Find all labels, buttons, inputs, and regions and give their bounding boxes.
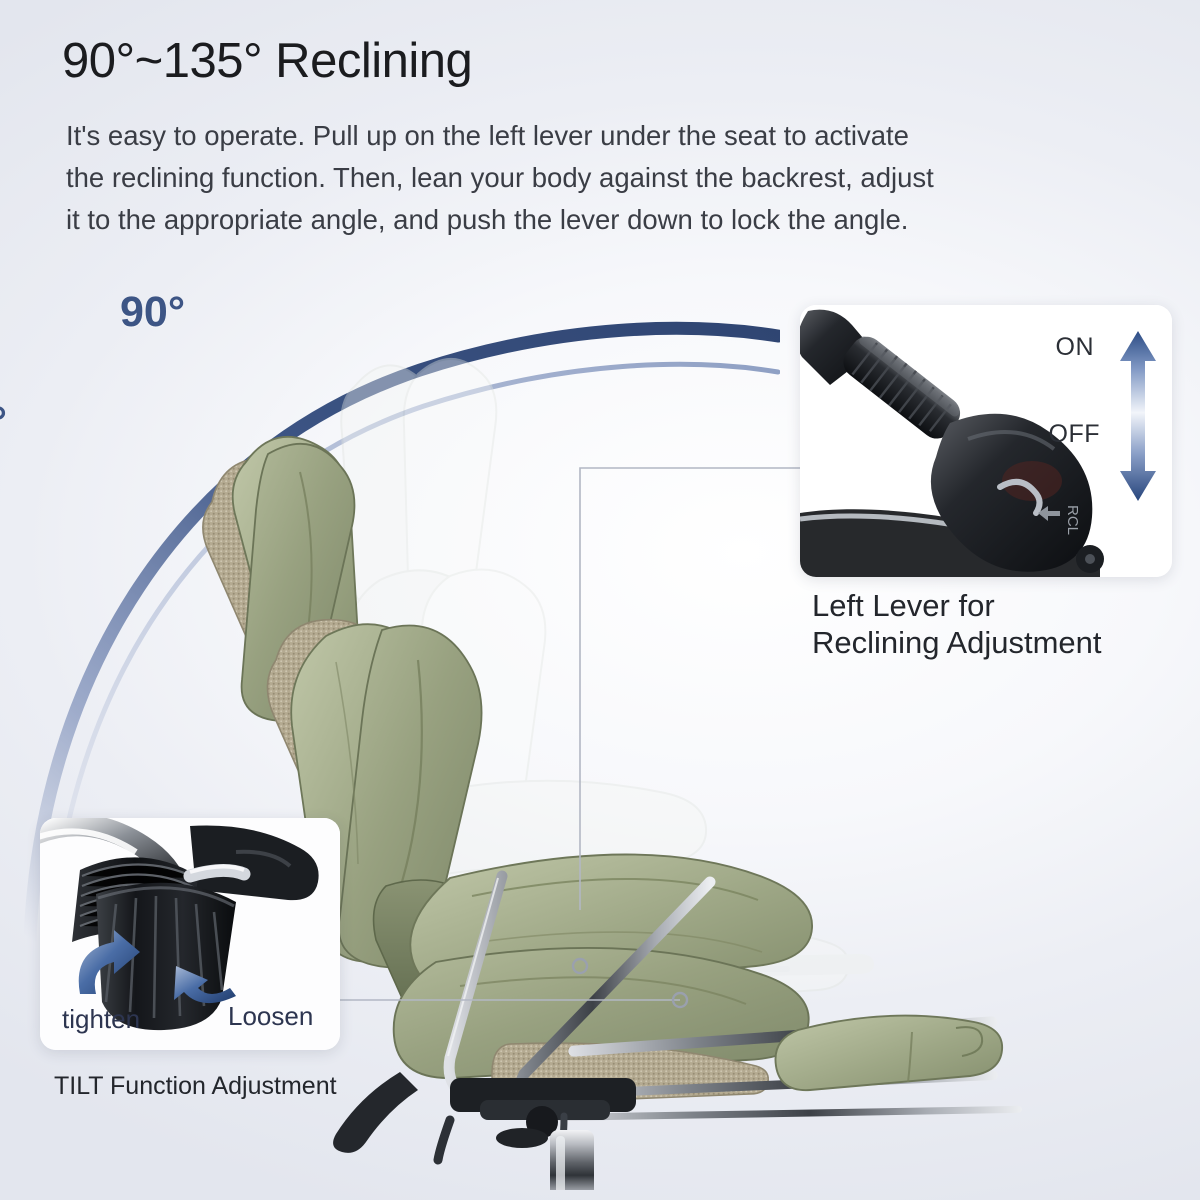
paragraph-line-1: It's easy to operate. Pull up on the lef… (66, 115, 1136, 157)
lever-inset-caption: Left Lever for Reclining Adjustment (812, 588, 1102, 661)
inset-lever-photo: RCL ON OFF (800, 305, 1172, 577)
lever-caption-line-1: Left Lever for (812, 588, 1102, 625)
knob-inset-caption: TILT Function Adjustment (54, 1072, 337, 1102)
infographic-canvas: 90°~135° Reclining It's easy to operate.… (0, 0, 1200, 1200)
rcl-marking-text: RCL (1064, 505, 1081, 535)
paragraph-line-3: it to the appropriate angle, and push th… (66, 199, 1136, 241)
lever-off-label: OFF (1049, 420, 1101, 449)
page-title: 90°~135° Reclining (62, 36, 472, 87)
lever-caption-line-2: Reclining Adjustment (812, 625, 1102, 662)
lever-photo-svg: RCL (800, 305, 1172, 577)
angle-label-135: 135° (0, 398, 7, 447)
chair-gas-cylinder (542, 1130, 604, 1190)
tighten-label: tighten (62, 1004, 140, 1035)
loosen-label: Loosen (228, 1001, 313, 1032)
description-paragraph: It's easy to operate. Pull up on the lef… (66, 115, 1136, 240)
lever-on-label: ON (1056, 333, 1095, 362)
paragraph-line-2: the reclining function. Then, lean your … (66, 157, 1136, 199)
inset-knob-photo: tighten Loosen (40, 818, 340, 1050)
